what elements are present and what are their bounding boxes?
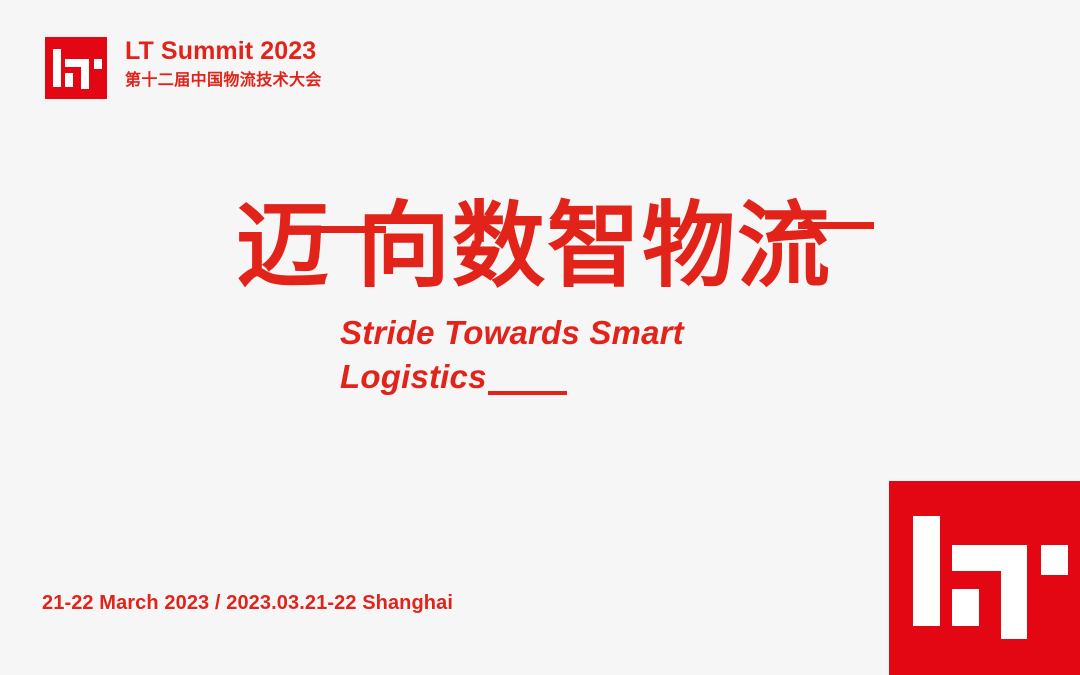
headline-chinese: 迈向数智物流 <box>236 200 936 293</box>
decorative-stroke-right <box>798 222 874 229</box>
lt-summit-logo-icon <box>45 37 107 99</box>
headline-chinese-part1: 迈 <box>236 192 331 300</box>
logo-dot-shape <box>1041 545 1068 575</box>
header-text-group: LT Summit 2023 第十二届中国物流技术大会 <box>125 37 322 89</box>
brand-title: LT Summit 2023 <box>125 38 322 65</box>
logo-bar-shape <box>53 49 61 87</box>
poster-canvas: LT Summit 2023 第十二届中国物流技术大会 迈向数智物流 Strid… <box>0 0 1080 675</box>
brand-subtitle: 第十二届中国物流技术大会 <box>125 70 322 89</box>
decorative-underline <box>488 391 567 395</box>
headline-chinese-part2: 向数智物流 <box>357 192 832 300</box>
date-location-text: 21-22 March 2023 / 2023.03.21-22 Shangha… <box>42 592 453 615</box>
logo-bar-shape <box>913 516 940 626</box>
headline-english: Stride Towards Smart Logistics <box>340 311 760 398</box>
logo-stem-shape <box>81 59 89 89</box>
logo-square-shape <box>952 589 979 626</box>
headline-block: 迈向数智物流 Stride Towards Smart Logistics <box>236 200 936 398</box>
headline-english-line1: Stride Towards Smart <box>340 311 760 355</box>
header-lockup: LT Summit 2023 第十二届中国物流技术大会 <box>45 37 322 99</box>
logo-stem-shape <box>1001 545 1027 639</box>
decorative-stroke-middle <box>308 226 386 233</box>
logo-dot-shape <box>94 59 102 69</box>
logo-square-shape <box>65 73 73 87</box>
lt-summit-corner-logo-icon <box>889 481 1080 675</box>
